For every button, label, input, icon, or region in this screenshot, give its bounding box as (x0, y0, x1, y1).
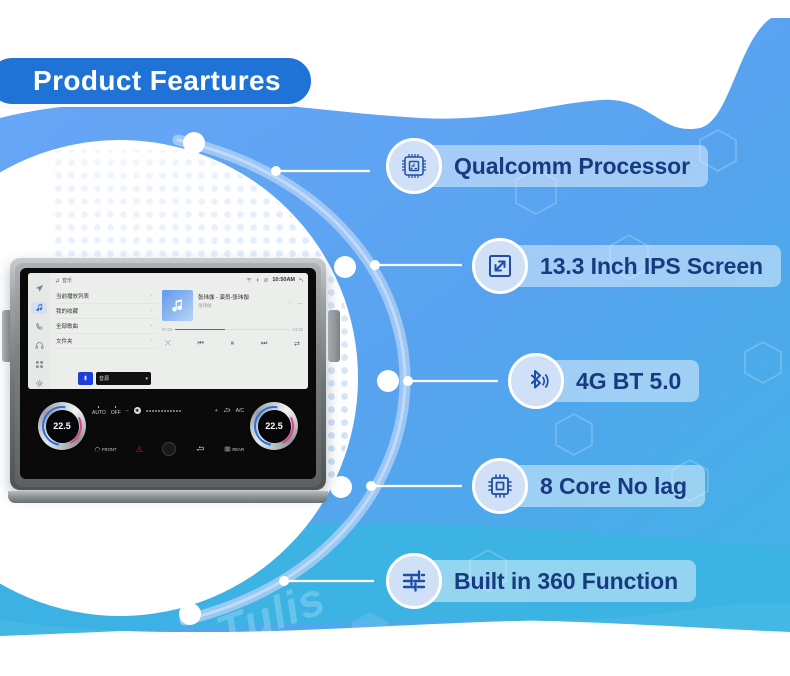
music-note-icon[interactable] (31, 302, 47, 314)
track-artist: 张玮伽 (198, 303, 249, 309)
feature-label: 13.3 Inch IPS Screen (540, 253, 763, 280)
back-arrow-icon[interactable] (298, 277, 304, 283)
climate-bottom-row[interactable]: FRONT ⚠ REAR (94, 442, 244, 456)
front-defrost-label: FRONT (102, 447, 116, 452)
duration-time: 04:33 (293, 327, 303, 332)
temperature-knob-left[interactable]: 22.5 (38, 402, 86, 450)
app-title-text: 音乐 (62, 277, 72, 284)
repeat-icon[interactable]: ⇄ (294, 340, 300, 348)
microphone-icon[interactable] (78, 372, 93, 385)
auto-button[interactable]: AUTO (92, 406, 106, 416)
feature-label-pill: 4G BT 5.0 (548, 360, 699, 402)
bluetooth-signal-icon (508, 353, 564, 409)
menu-item[interactable]: 我的收藏 › (56, 304, 158, 319)
progress-row[interactable]: 00:32 04:33 (162, 327, 303, 332)
wifi-icon (246, 277, 252, 283)
playback-controls[interactable]: ⤬ ⏮ ⏸ ⏭ ⇄ (162, 340, 303, 348)
chevron-right-icon: › (150, 338, 152, 344)
feature-label-pill: 8 Core No lag (512, 465, 705, 507)
shuffle-icon[interactable]: ⤬ (165, 340, 171, 348)
chevron-right-icon: › (150, 308, 152, 314)
feature-item-processor[interactable]: Qualcomm Processor (386, 138, 708, 194)
feature-label-pill: Qualcomm Processor (426, 145, 708, 187)
phone-icon[interactable] (31, 321, 47, 333)
previous-icon[interactable]: ⏮ (197, 340, 203, 348)
progress-bar[interactable] (175, 329, 289, 331)
off-button[interactable]: OFF (111, 406, 121, 416)
feature-label: 4G BT 5.0 (576, 368, 681, 395)
voice-source-bar[interactable]: 音源 ▾ (78, 372, 151, 385)
mount-tab-right (328, 310, 340, 362)
feature-label: 8 Core No lag (540, 473, 687, 500)
track-meta: 张玮伽 - 演员-张玮伽 张玮伽 (198, 290, 249, 321)
diagonal-arrows-screen-icon (472, 238, 528, 294)
settings-gear-icon[interactable] (31, 377, 47, 389)
sliders-equalizer-icon (386, 553, 442, 609)
feature-label: Built in 360 Function (454, 568, 678, 595)
device-base (8, 491, 328, 503)
front-defrost-button[interactable]: FRONT (94, 446, 116, 452)
app-title: 音乐 (55, 277, 72, 284)
temperature-knob-right[interactable]: 22.5 (250, 402, 298, 450)
feature-item-bluetooth[interactable]: 4G BT 5.0 (508, 353, 699, 409)
apps-grid-icon[interactable] (31, 358, 47, 370)
feature-label: Qualcomm Processor (454, 153, 690, 180)
climate-control-panel[interactable]: 22.5 22.5 AUTO OFF – ✱ (20, 390, 316, 479)
device-screen[interactable]: 音乐 10:50AM 当前播放列表 › (20, 268, 316, 479)
menu-item-label: 当前播放列表 (56, 292, 89, 300)
app-sidebar[interactable] (28, 273, 50, 389)
off-label: OFF (111, 410, 121, 416)
heart-icon[interactable]: ♡ (288, 301, 292, 307)
auto-label: AUTO (92, 410, 106, 416)
fan-increase-button[interactable]: + (215, 408, 218, 414)
next-icon[interactable]: ⏭ (261, 340, 267, 348)
page-title-banner: Product Feartures (0, 55, 314, 107)
menu-item-label: 全部歌曲 (56, 322, 78, 330)
feature-item-core[interactable]: 8 Core No lag (472, 458, 705, 514)
radio-icon[interactable] (31, 339, 47, 351)
feature-label-pill: Built in 360 Function (426, 560, 696, 602)
feature-item-360[interactable]: Built in 360 Function (386, 553, 696, 609)
page-title: Product Feartures (33, 65, 281, 97)
cpu-core-icon (472, 458, 528, 514)
menu-item[interactable]: 文件夹 › (56, 334, 158, 349)
recirculation-button[interactable] (196, 445, 205, 453)
chevron-right-icon: › (150, 293, 152, 299)
signal-icon (263, 277, 269, 283)
recirculation-icon[interactable] (223, 407, 231, 415)
fan-speed-slider[interactable] (146, 410, 210, 412)
rear-defrost-button[interactable]: REAR (224, 446, 244, 452)
feature-item-screen[interactable]: 13.3 Inch IPS Screen (472, 238, 781, 294)
track-row: 张玮伽 - 演员-张玮伽 张玮伽 (162, 290, 303, 321)
audio-source-select[interactable]: 音源 ▾ (96, 372, 151, 385)
climate-top-row[interactable]: AUTO OFF – ✱ + (92, 406, 244, 416)
chevron-down-icon: ▾ (145, 376, 148, 382)
pause-icon[interactable]: ⏸ (231, 340, 235, 348)
menu-item-label: 文件夹 (56, 337, 73, 345)
music-app-window[interactable]: 音乐 10:50AM 当前播放列表 › (28, 273, 308, 389)
processor-chip-icon (386, 138, 442, 194)
infographic-canvas: Tulis Tulis Product Feartures Qualcomm P… (0, 0, 790, 676)
feature-label-pill: 13.3 Inch IPS Screen (512, 245, 781, 287)
now-playing-panel: ♡ — 张玮伽 - 演员-张玮伽 张玮伽 (158, 287, 308, 389)
hazard-icon[interactable]: ⚠ (136, 445, 143, 454)
navigation-icon[interactable] (31, 283, 47, 295)
minimize-icon[interactable]: — (298, 301, 303, 307)
now-playing-actions: ♡ — (288, 301, 303, 307)
fan-icon[interactable]: ✱ (134, 407, 141, 414)
album-art (162, 290, 193, 321)
fan-decrease-button[interactable]: – (126, 408, 129, 414)
track-title: 张玮伽 - 演员-张玮伽 (198, 293, 249, 301)
menu-item-label: 我的收藏 (56, 307, 78, 315)
power-button-icon[interactable] (162, 442, 176, 456)
menu-item[interactable]: 全部歌曲 › (56, 319, 158, 334)
bluetooth-icon (255, 277, 260, 283)
chevron-right-icon: › (150, 323, 152, 329)
menu-item[interactable]: 当前播放列表 › (56, 289, 158, 304)
car-head-unit-device: 音乐 10:50AM 当前播放列表 › (6, 255, 336, 505)
audio-source-label: 音源 (99, 375, 109, 382)
rear-defrost-label: REAR (232, 447, 244, 452)
elapsed-time: 00:32 (162, 327, 172, 332)
status-bar: 音乐 10:50AM (50, 273, 308, 287)
app-main-area: 音乐 10:50AM 当前播放列表 › (50, 273, 308, 389)
ac-label[interactable]: A/C (236, 408, 244, 414)
clock-time: 10:50AM (272, 277, 295, 283)
